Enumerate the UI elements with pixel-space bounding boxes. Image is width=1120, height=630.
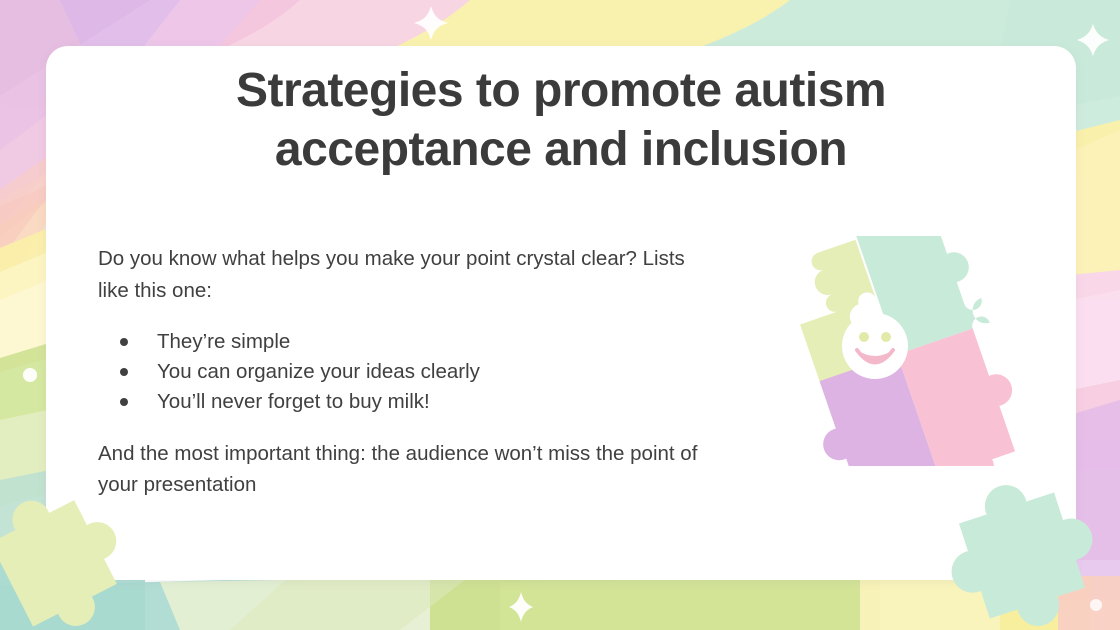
puzzle-piece-icon-bottom-right [945, 468, 1120, 630]
list-item: You’ll never forget to buy milk! [98, 387, 698, 417]
title-line-1: Strategies to promote autism [236, 64, 886, 117]
body-content: Do you know what helps you make your poi… [98, 243, 698, 501]
bullet-list: They’re simple You can organize your ide… [98, 327, 698, 418]
bullet-dot-icon [120, 368, 128, 376]
presentation-slide: Strategies to promote autism acceptance … [0, 0, 1120, 630]
intro-paragraph: Do you know what helps you make your poi… [98, 243, 698, 307]
page-title: Strategies to promote autism acceptance … [46, 62, 1076, 179]
smiley-face-icon [842, 313, 908, 379]
bullet-dot-icon [120, 338, 128, 346]
bullet-dot-icon [120, 398, 128, 406]
list-item: They’re simple [98, 327, 698, 357]
sparkle-icon-left [23, 368, 37, 382]
closing-paragraph: And the most important thing: the audien… [98, 438, 698, 502]
list-item-label: You’ll never forget to buy milk! [157, 390, 430, 413]
puzzle-piece-icon-bottom-left [0, 478, 170, 630]
title-line-2: acceptance and inclusion [275, 123, 847, 176]
list-item-label: They’re simple [157, 330, 290, 353]
list-item: You can organize your ideas clearly [98, 357, 698, 387]
list-item-label: You can organize your ideas clearly [157, 360, 480, 383]
puzzle-illustration [778, 236, 1018, 466]
